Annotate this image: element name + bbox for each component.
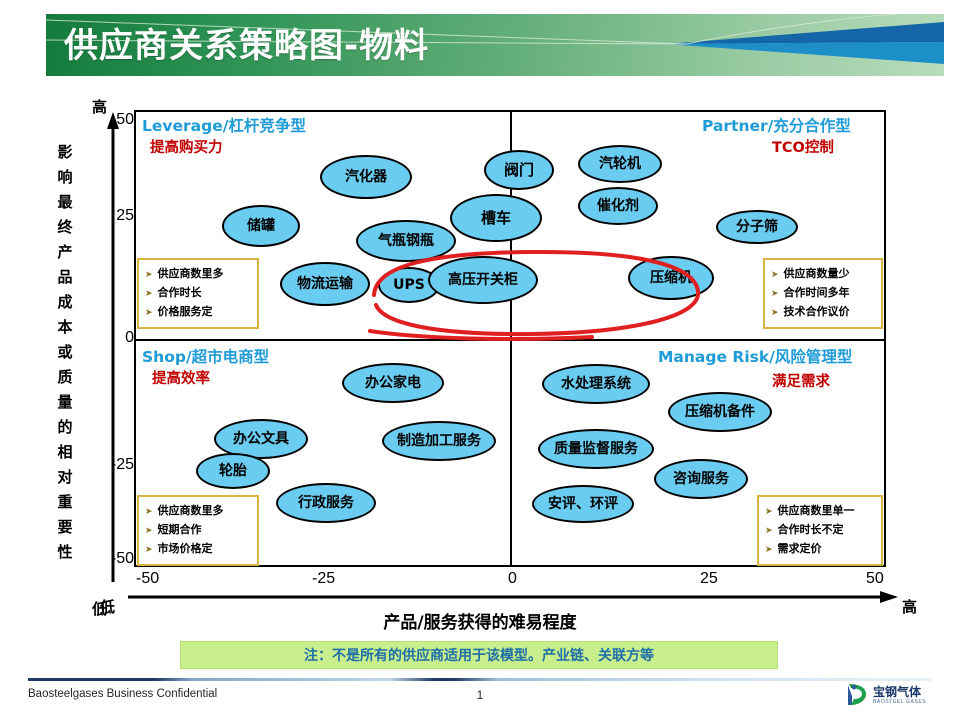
logo-mark-icon [846,683,868,707]
x-axis-arrow-icon [128,590,898,604]
logo-text-en: BAOSTEEL GASES [873,700,926,705]
x-tick-3: 25 [700,570,718,588]
logo-text-cn: 宝钢气体 [873,686,926,698]
slide: 供应商关系策略图-物料 高 低 影响最终产品成本或质量的相对重要性 50 25 … [0,0,960,720]
note-bar: 注：不是所有的供应商适用于该模型。产业链、关联方等 [180,641,778,669]
baosteel-gases-logo: 宝钢气体 BAOSTEEL GASES [846,681,946,709]
footer-divider [28,678,932,681]
x-tick-1: -25 [312,570,335,588]
page-number: 1 [0,688,960,702]
x-tick-4: 50 [866,570,884,588]
x-tick-0: -50 [136,570,159,588]
x-tick-2: 0 [508,570,517,588]
note-text: 注：不是所有的供应商适用于该模型。产业链、关联方等 [304,645,654,665]
x-axis-title: 产品/服务获得的难易程度 [0,608,960,633]
logo-text-block: 宝钢气体 BAOSTEEL GASES [873,686,926,705]
